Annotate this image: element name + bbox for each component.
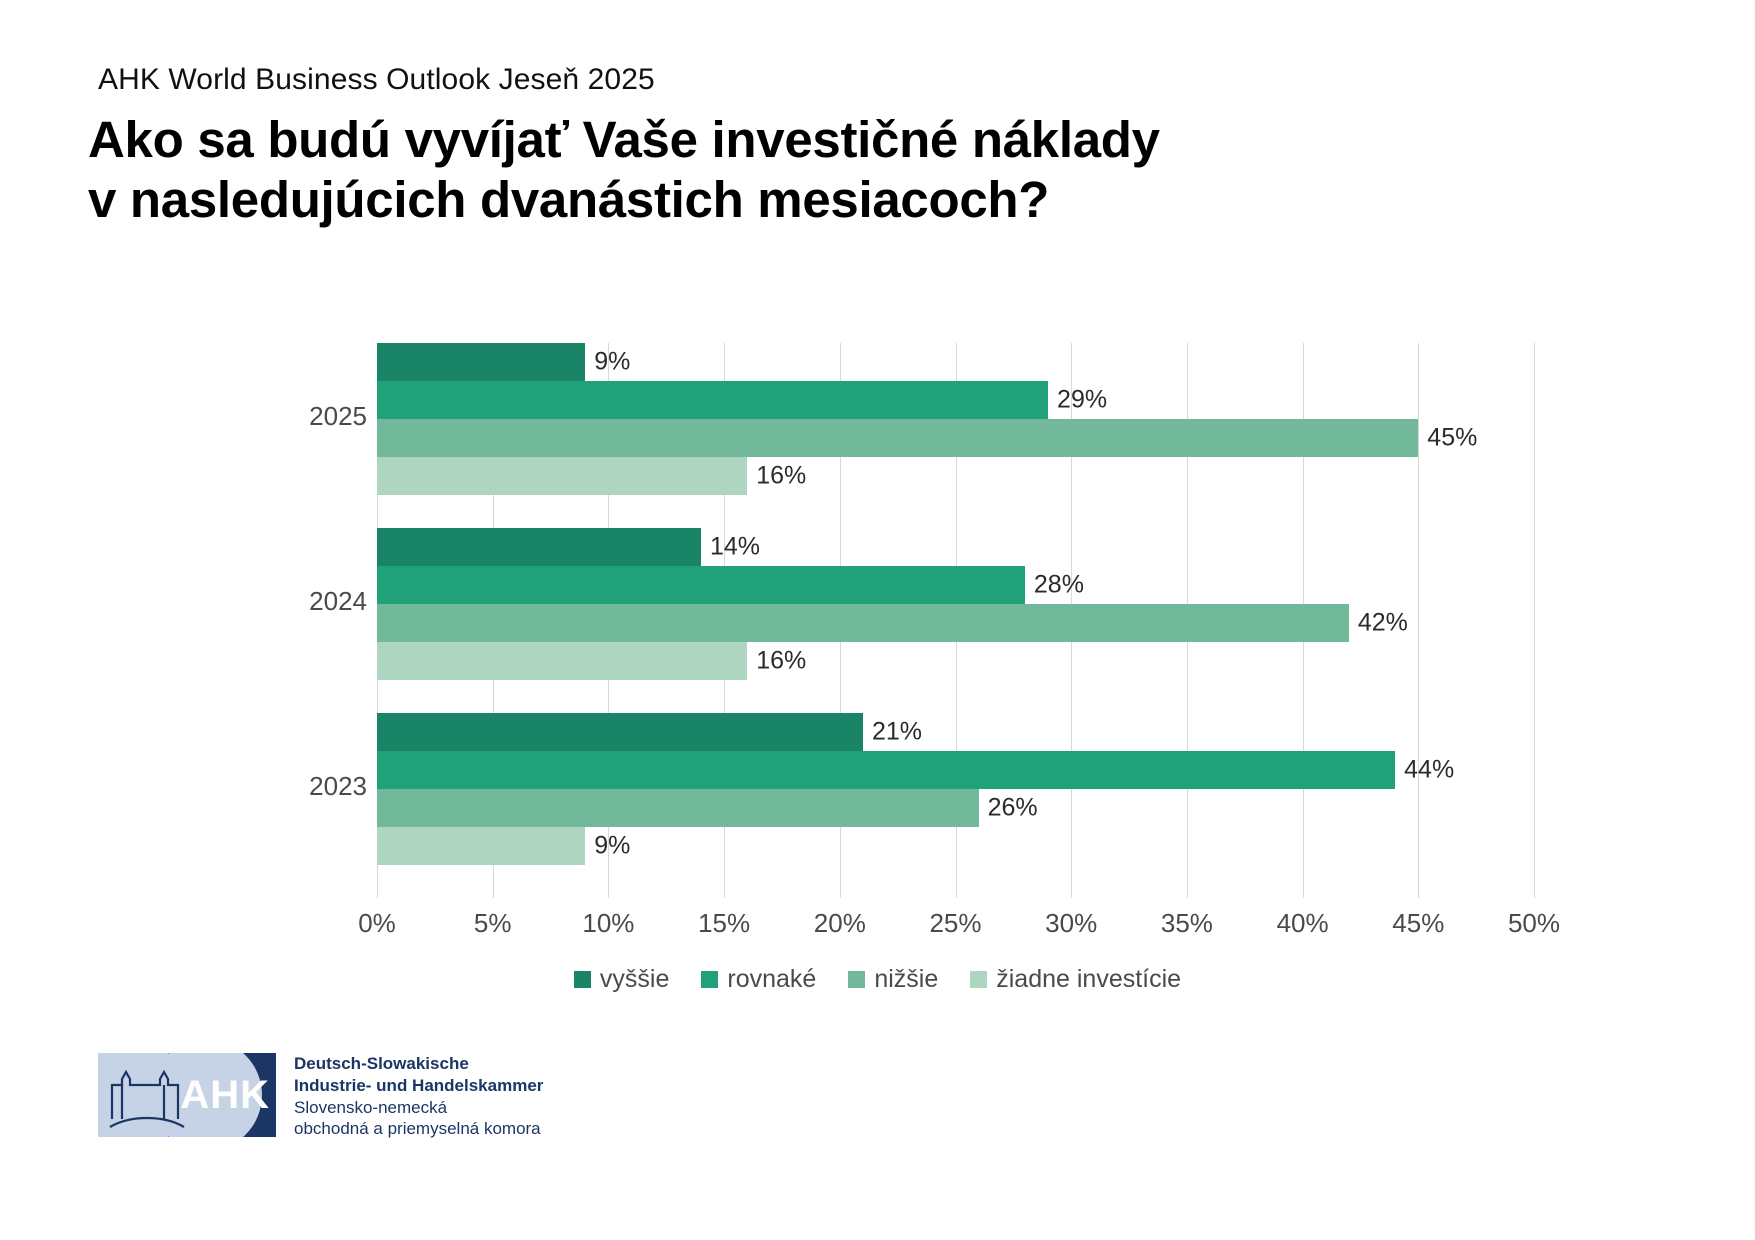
x-axis-tick-45: 45%: [1392, 908, 1444, 939]
logo-company-text: Deutsch-Slowakische Industrie- und Hande…: [294, 1053, 543, 1140]
logo-text-line-4: obchodná a priemyselná komora: [294, 1118, 543, 1140]
x-axis-tick-35: 35%: [1161, 908, 1213, 939]
legend-label: rovnaké: [727, 965, 816, 994]
bar-group-2024: 14%28%42%16%2024: [377, 528, 1534, 680]
bar-row: 29%: [377, 381, 1534, 419]
legend-item-rovnaké[interactable]: rovnaké: [701, 965, 816, 994]
x-axis-tick-20: 20%: [814, 908, 866, 939]
ahk-logo-mark: AHK: [98, 1053, 276, 1137]
bar-2023-vyššie[interactable]: [377, 713, 863, 751]
page-title-line-2: v nasledujúcich dvanástich mesiacoch?: [88, 170, 1648, 230]
x-axis-tick-15: 15%: [698, 908, 750, 939]
bar-row: 26%: [377, 789, 1534, 827]
bar-value-label: 44%: [1395, 756, 1454, 785]
legend-swatch-icon: [701, 971, 718, 988]
bar-value-label: 21%: [863, 718, 922, 747]
bar-row: 42%: [377, 604, 1534, 642]
bar-2024-žiadne[interactable]: [377, 642, 747, 680]
bar-group-2025: 9%29%45%16%2025: [377, 343, 1534, 495]
y-axis-label-2024: 2024: [247, 586, 367, 617]
legend-swatch-icon: [848, 971, 865, 988]
bar-group-2023: 21%44%26%9%2023: [377, 713, 1534, 865]
legend-item-vyššie[interactable]: vyššie: [574, 965, 669, 994]
bar-2024-nižšie[interactable]: [377, 604, 1349, 642]
bar-2023-nižšie[interactable]: [377, 789, 979, 827]
legend-label: vyššie: [600, 965, 669, 994]
bar-value-label: 16%: [747, 647, 806, 676]
chart-x-axis: 0%5%10%15%20%25%30%35%40%45%50%: [377, 908, 1534, 948]
legend-label: žiadne investície: [996, 965, 1181, 994]
bar-value-label: 26%: [979, 794, 1038, 823]
chart-bar-groups: 9%29%45%16%202514%28%42%16%202421%44%26%…: [377, 343, 1534, 898]
bar-row: 16%: [377, 457, 1534, 495]
logo-ahk-text: AHK: [180, 1075, 270, 1115]
bar-row: 45%: [377, 419, 1534, 457]
bar-row: 21%: [377, 713, 1534, 751]
bar-2025-rovnaké[interactable]: [377, 381, 1048, 419]
bar-row: 9%: [377, 827, 1534, 865]
bar-value-label: 42%: [1349, 609, 1408, 638]
legend-swatch-icon: [574, 971, 591, 988]
bar-2025-vyššie[interactable]: [377, 343, 585, 381]
x-axis-tick-30: 30%: [1045, 908, 1097, 939]
y-axis-label-2023: 2023: [247, 771, 367, 802]
x-axis-tick-10: 10%: [582, 908, 634, 939]
bar-value-label: 45%: [1418, 424, 1477, 453]
page-title-line-1: Ako sa budú vyvíjať Vaše investičné nákl…: [88, 111, 1160, 168]
page-title: Ako sa budú vyvíjať Vaše investičné nákl…: [88, 110, 1648, 230]
bar-value-label: 29%: [1048, 386, 1107, 415]
x-axis-tick-0: 0%: [358, 908, 396, 939]
bar-row: 28%: [377, 566, 1534, 604]
legend-label: nižšie: [874, 965, 938, 994]
legend-item-žiadne[interactable]: žiadne investície: [970, 965, 1181, 994]
bar-row: 16%: [377, 642, 1534, 680]
bar-2025-nižšie[interactable]: [377, 419, 1418, 457]
bar-2023-žiadne[interactable]: [377, 827, 585, 865]
x-axis-tick-50: 50%: [1508, 908, 1560, 939]
logo-text-line-3: Slovensko-nemecká: [294, 1097, 543, 1119]
bar-2023-rovnaké[interactable]: [377, 751, 1395, 789]
chart-legend: vyššierovnakénižšiežiadne investície: [0, 965, 1755, 994]
bar-value-label: 9%: [585, 348, 630, 377]
x-axis-tick-40: 40%: [1277, 908, 1329, 939]
bar-row: 9%: [377, 343, 1534, 381]
kicker-text: AHK World Business Outlook Jeseň 2025: [98, 63, 655, 97]
legend-item-nižšie[interactable]: nižšie: [848, 965, 938, 994]
chart-plot-area: 9%29%45%16%202514%28%42%16%202421%44%26%…: [377, 343, 1534, 898]
logo-text-line-1: Deutsch-Slowakische: [294, 1053, 543, 1075]
bar-2024-vyššie[interactable]: [377, 528, 701, 566]
bar-value-label: 28%: [1025, 571, 1084, 600]
bar-value-label: 14%: [701, 533, 760, 562]
bar-value-label: 9%: [585, 832, 630, 861]
y-axis-label-2025: 2025: [247, 401, 367, 432]
bar-2024-rovnaké[interactable]: [377, 566, 1025, 604]
ahk-logo: AHK Deutsch-Slowakische Industrie- und H…: [98, 1053, 543, 1140]
bar-2025-žiadne[interactable]: [377, 457, 747, 495]
x-axis-tick-25: 25%: [929, 908, 981, 939]
bar-row: 44%: [377, 751, 1534, 789]
gridline-50: [1534, 343, 1535, 898]
logo-text-line-2: Industrie- und Handelskammer: [294, 1075, 543, 1097]
bar-value-label: 16%: [747, 462, 806, 491]
bar-row: 14%: [377, 528, 1534, 566]
legend-swatch-icon: [970, 971, 987, 988]
x-axis-tick-5: 5%: [474, 908, 512, 939]
